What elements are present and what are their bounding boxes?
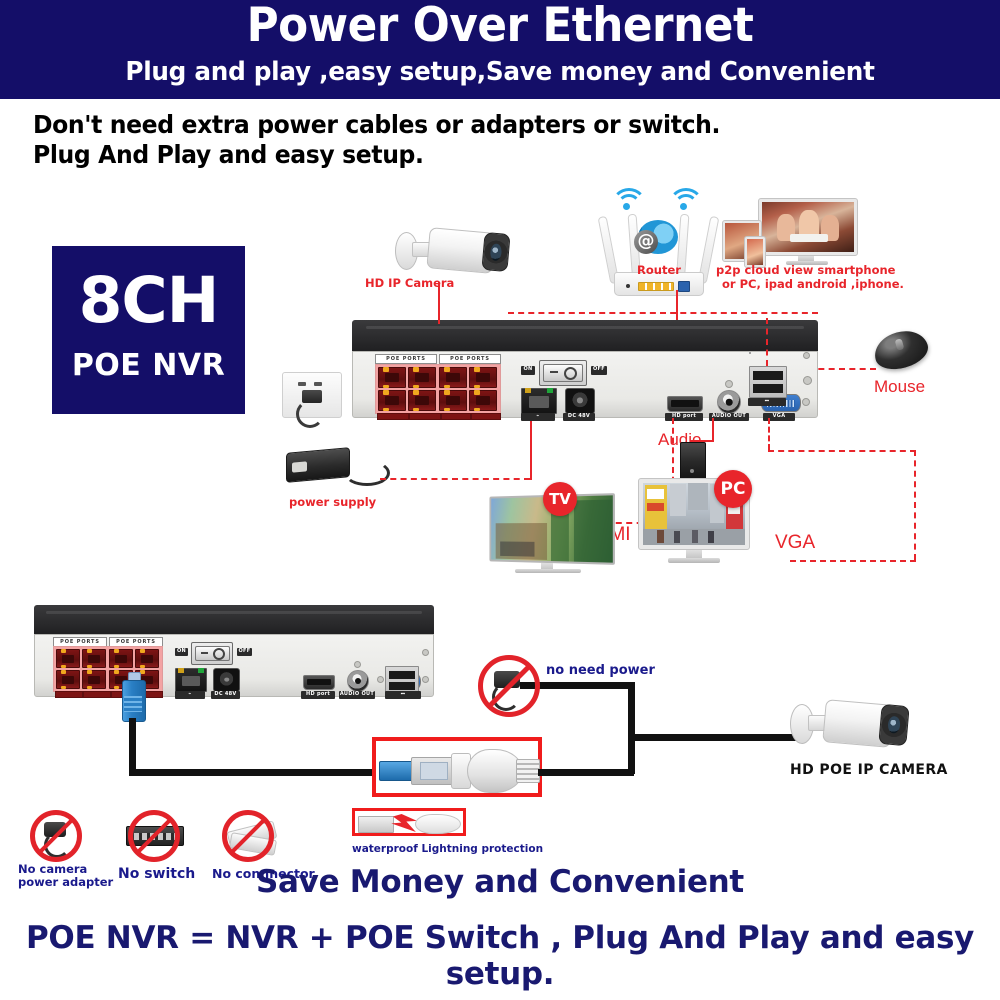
monitor-icon — [758, 198, 858, 256]
label-p2p-line-1: p2p cloud view smartphone — [716, 263, 895, 277]
screw-icon — [354, 661, 361, 668]
audio-out-label: AUDIO OUT — [709, 413, 749, 421]
poe-port — [408, 390, 436, 411]
tv-base-icon — [515, 569, 581, 573]
label-mouse: Mouse — [874, 377, 925, 397]
usb-port-label-top: ⎓ — [748, 398, 786, 406]
connector-mouse-to-usb — [808, 368, 876, 370]
usb-slot-icon — [389, 671, 416, 679]
power-cable-icon — [344, 460, 390, 486]
p2p-devices-illustration — [718, 198, 868, 266]
camera-lens-face-icon — [481, 232, 510, 272]
mouse-body-icon — [870, 325, 932, 374]
connector-audio-drop — [712, 418, 714, 440]
footer-line-2: POE NVR = NVR + POE Switch , Plug And Pl… — [0, 920, 1000, 992]
label-p2p-line-2: or PC, ipad android ,iphone. — [722, 277, 904, 291]
thumb-rj45-icon — [358, 816, 394, 833]
cable-horizontal-to-waterproof — [129, 769, 379, 776]
power-switch[interactable] — [539, 360, 587, 386]
usb-slot-icon — [753, 384, 783, 393]
waterproof-connector-assembly — [372, 737, 542, 797]
lan-port-bottom — [175, 668, 207, 692]
connector-router-to-nvr — [676, 290, 678, 324]
connector-vga-h — [768, 450, 916, 452]
connector-vga-to-pc — [790, 560, 916, 562]
screw-icon — [725, 380, 733, 388]
camera-lens-face-icon — [878, 704, 909, 746]
hd-poe-camera-illustration — [790, 690, 910, 760]
screw-icon — [803, 376, 812, 385]
at-symbol-icon: @ — [634, 230, 658, 254]
label-hd-poe-ip-camera: HD POE IP CAMERA — [790, 762, 948, 778]
poe-ports-label-left: POE PORTS — [375, 354, 437, 364]
wall-socket-illustration — [282, 372, 342, 422]
hdmi-port-label: HD port — [665, 413, 703, 421]
camera-lens-icon — [490, 243, 502, 260]
poe-port — [469, 367, 497, 388]
nvr-top-cover-bottom — [34, 605, 434, 636]
poe-bottom-strip — [83, 691, 111, 698]
poe-port — [82, 649, 106, 668]
screw-icon — [377, 676, 384, 683]
power-brick-socket-icon — [292, 461, 307, 472]
wifi-dot-icon — [680, 203, 687, 210]
label-power-supply: power supply — [289, 495, 376, 509]
pc-badge: PC — [714, 470, 752, 508]
page-subtitle: Plug and play ,easy setup,Save money and… — [25, 57, 975, 87]
product-badge: 8CH POE NVR — [52, 246, 245, 414]
usb-ports-top-nvr — [749, 366, 787, 398]
screw-icon — [803, 352, 810, 359]
nvr-rear-panel-bottom: POE PORTS POE PORTS ON OFF ⌁ DC 48V HD — [34, 634, 434, 697]
monitor-screen-content — [762, 202, 854, 252]
speaker-body-icon — [680, 442, 706, 480]
camera-lens-icon — [887, 716, 900, 734]
usb-port-label-b: ⎓ — [385, 691, 421, 699]
switch-line-icon — [550, 371, 558, 373]
dc-port-label: DC 48V — [563, 413, 595, 421]
connector-network-bus — [508, 312, 818, 314]
cable-from-waterproof-right — [538, 769, 634, 776]
connector-power-to-dc — [380, 478, 530, 480]
connector-usb-to-mouse — [766, 318, 768, 366]
rj45-ridges-icon — [124, 696, 142, 712]
label-waterproof: waterproof Lightning protection — [352, 843, 543, 855]
usb-ports-bottom — [385, 666, 419, 694]
badge-channels: 8CH — [52, 264, 245, 337]
label-vga: VGA — [775, 532, 815, 554]
connector-vga-down — [914, 450, 916, 560]
waterproof-rj45-window-icon — [420, 762, 448, 780]
hdmi-port-label-b: HD port — [301, 691, 335, 699]
router-led-icon — [626, 284, 630, 288]
connector-dc-vertical — [530, 420, 532, 480]
page-title: Power Over Ethernet — [35, 0, 965, 53]
intro-line-2: Plug And Play and easy setup. — [33, 140, 897, 170]
usb-slot-icon — [389, 682, 416, 690]
tv-badge: TV — [543, 482, 577, 516]
poe-port — [82, 670, 106, 689]
waterproof-cone-icon — [467, 749, 523, 793]
hd-ip-camera-illustration — [395, 216, 510, 284]
poe-port — [56, 670, 80, 689]
socket-hole-icon — [298, 382, 306, 386]
intro-line-1: Don't need extra power cables or adapter… — [33, 110, 897, 140]
cable-junction-vertical — [628, 682, 635, 774]
poe-bottom-strip — [441, 413, 471, 420]
waterproof-blue-plug-icon — [379, 761, 415, 781]
usb-ports — [749, 352, 751, 354]
intro-text: Don't need extra power cables or adapter… — [33, 110, 897, 170]
poe-port — [109, 649, 133, 668]
lan-port-label: ⌁ — [521, 413, 555, 421]
dc-power-jack-bottom — [213, 668, 240, 692]
connector-poe-tick — [438, 300, 440, 324]
switch-on-label-b: ON — [175, 648, 188, 656]
hdmi-port-bottom — [303, 675, 335, 690]
no-power-adapter-icon-top — [478, 655, 540, 717]
poe-port — [135, 649, 159, 668]
socket-cable-icon — [296, 400, 324, 428]
badge-product: POE NVR — [52, 348, 245, 383]
poe-port — [408, 367, 436, 388]
poe-port — [439, 390, 467, 411]
nvr-top-cover — [352, 320, 818, 353]
screw-icon — [802, 398, 810, 406]
poe-bottom-strip — [409, 413, 441, 420]
audio-out-port-bottom — [347, 670, 369, 692]
footer-line-1: Save Money and Convenient — [0, 864, 1000, 900]
dc-port-label-b: DC 48V — [211, 691, 240, 699]
router-wan-port-icon — [678, 281, 690, 292]
header-banner: Power Over Ethernet Plug and play ,easy … — [0, 0, 1000, 99]
lan-port — [521, 388, 557, 414]
cable-to-camera — [628, 734, 808, 741]
speaker-led-icon — [690, 469, 694, 473]
screw-icon — [422, 676, 429, 683]
poe-bottom-strip — [55, 691, 83, 698]
speaker-illustration — [680, 442, 704, 478]
mouse-illustration — [872, 330, 930, 372]
label-no-need-power: no need power — [546, 663, 655, 678]
power-switch-bottom[interactable] — [191, 642, 233, 665]
usb-slot-icon — [753, 371, 783, 380]
router-illustration: @ — [598, 186, 718, 302]
power-supply-illustration — [286, 446, 396, 492]
nvr-device-bottom: POE PORTS POE PORTS ON OFF ⌁ DC 48V HD — [34, 605, 434, 697]
switch-off-label-b: OFF — [237, 648, 252, 656]
dc-power-jack — [565, 388, 595, 414]
poe-port — [469, 390, 497, 411]
poe-bottom-strip — [377, 413, 409, 420]
switch-off-label: OFF — [591, 366, 607, 375]
router-lan-ports-icon — [638, 282, 674, 291]
poe-port — [56, 649, 80, 668]
poe-bottom-strip — [471, 413, 501, 420]
label-router: Router — [637, 263, 681, 277]
label-hd-ip-camera: HD IP Camera — [365, 276, 454, 290]
pc-base-icon — [668, 558, 720, 563]
poe-port — [439, 367, 467, 388]
hdmi-port — [667, 396, 703, 412]
switch-on-label: ON — [521, 366, 535, 375]
phone-screen-content — [747, 239, 763, 265]
power-switch-rocker[interactable] — [543, 364, 583, 382]
poe-port — [378, 390, 406, 411]
lan-port-label-b: ⌁ — [175, 691, 205, 699]
waterproof-thumbnail — [352, 808, 466, 836]
poe-ports-label-right: POE PORTS — [439, 354, 501, 364]
waterproof-thread-icon — [516, 759, 540, 783]
switch-line-icon — [201, 652, 208, 654]
thumb-cone-icon — [415, 814, 461, 834]
screw-icon — [422, 649, 429, 656]
poe-ports-panel — [375, 364, 501, 414]
audio-out-label-b: AUDIO OUT — [339, 691, 375, 699]
poe-port — [378, 367, 406, 388]
socket-hole-icon — [314, 382, 322, 386]
connector-vga-drop — [768, 418, 770, 450]
wifi-dot-icon — [623, 203, 630, 210]
cable-vertical-from-nvr — [129, 718, 136, 776]
poe-ports-panel-bottom — [53, 646, 163, 692]
audio-out-port — [717, 390, 741, 414]
